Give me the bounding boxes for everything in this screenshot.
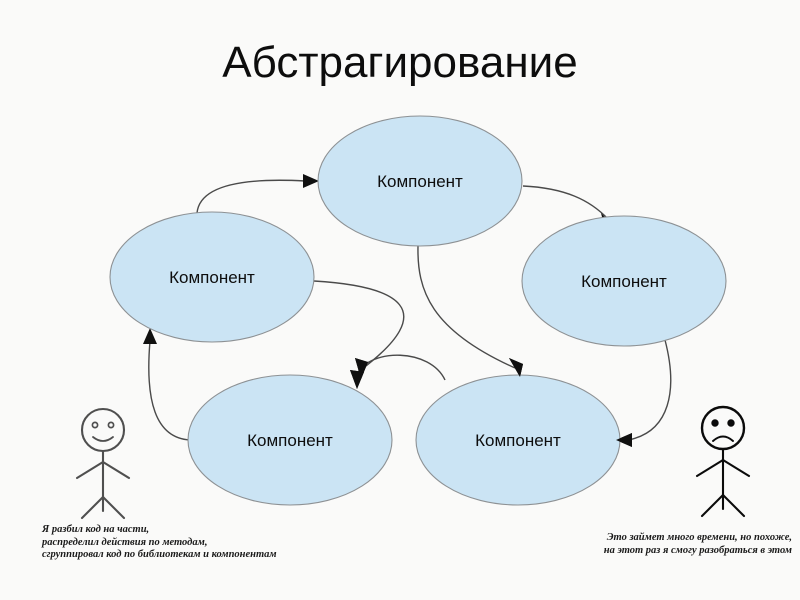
figure-arm-right [723,460,749,476]
edge-left-to-top [197,174,319,213]
node-label: Компонент [581,272,667,291]
figure-arm-right [103,462,129,478]
figure-eye-right [728,420,734,426]
node-bottom-left[interactable]: Компонент [188,375,392,505]
edge-path [357,355,445,380]
slide-canvas: Абстрагирование [0,0,800,600]
caption-developer-happy: Я разбил код на части, распределил дейст… [42,524,277,562]
node-top[interactable]: Компонент [318,116,522,246]
edge-path [149,341,190,440]
caption-line: Я разбил код на части, [42,524,277,537]
edge-path [197,180,305,213]
node-label: Компонент [169,268,255,287]
node-label: Компонент [247,431,333,450]
figure-head [82,409,124,451]
figure-leg-left [82,497,103,518]
figure-leg-right [103,497,124,518]
figure-developer-happy [77,409,129,518]
figure-leg-right [723,495,744,516]
edge-top-to-bottom-right [418,246,523,377]
caption-line: сгруппировал код по библиотекам и компон… [42,549,277,562]
edge-bottom-right-to-bottom-left [350,355,445,389]
arrow-head-icon [509,358,523,377]
caption-line: на этот раз я смогу разобраться в этом [604,545,792,558]
edge-path [523,186,608,219]
node-label: Компонент [377,172,463,191]
figure-arm-left [77,462,103,478]
caption-developer-sad: Это займет много времени, но похоже, на … [604,532,792,557]
arrow-head-icon [350,370,364,389]
caption-line: распределил действия по методам, [42,537,277,550]
edge-path [418,246,515,368]
figure-leg-left [702,495,723,516]
figure-eye-right [108,422,113,427]
edge-path [628,340,671,440]
edge-right-to-bottom-right [616,340,671,447]
figure-head [702,407,744,449]
figure-arm-left [697,460,723,476]
node-right[interactable]: Компонент [522,216,726,346]
component-diagram: Компонент Компонент Компонент Компонент … [0,0,800,600]
node-bottom-right[interactable]: Компонент [416,375,620,505]
figure-eye-left [92,422,97,427]
edge-bottom-left-to-left [143,328,190,440]
arrow-head-icon [303,174,319,188]
figure-eye-left [712,420,718,426]
node-label: Компонент [475,431,561,450]
node-left[interactable]: Компонент [110,212,314,342]
figure-developer-sad [697,407,749,516]
caption-line: Это займет много времени, но похоже, [604,532,792,545]
